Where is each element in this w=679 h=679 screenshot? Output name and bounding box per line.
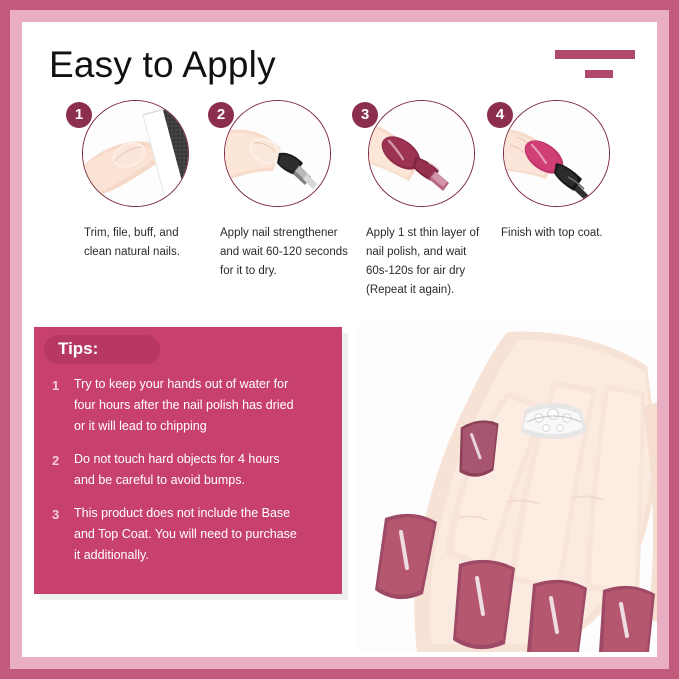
- step-4-photo-circle: [503, 100, 610, 207]
- step-4-caption: Finish with top coat.: [501, 224, 651, 243]
- tip-number: 2: [52, 449, 74, 471]
- step-item-2: 2 Apply nail strengthener and wait 60-12…: [208, 100, 358, 281]
- tips-heading: Tips:: [44, 335, 160, 364]
- content-canvas: Easy to Apply: [22, 22, 657, 657]
- step-3-number-badge: 3: [352, 102, 378, 128]
- step-item-4: 4 Finish with top coat.: [487, 100, 637, 243]
- nail-file-on-finger-icon: [83, 101, 188, 206]
- tip-item: 3 This product does not include the Base…: [34, 503, 342, 566]
- tips-panel: Tips: 1 Try to keep your hands out of wa…: [34, 327, 342, 594]
- step-2-photo-circle: [224, 100, 331, 207]
- step-3-caption: Apply 1 st thin layer of nail polish, an…: [366, 224, 506, 300]
- nail-polish-application-icon: [369, 101, 474, 206]
- decorative-bars: [555, 50, 635, 78]
- tip-item: 1 Try to keep your hands out of water fo…: [34, 374, 342, 437]
- tip-item: 2 Do not touch hard objects for 4 hours …: [34, 449, 342, 491]
- decor-bar-long-icon: [555, 50, 635, 59]
- step-1-photo-circle: [82, 100, 189, 207]
- product-infographic-poster: Easy to Apply: [0, 0, 679, 679]
- tips-list: 1 Try to keep your hands out of water fo…: [34, 374, 342, 578]
- step-2-caption: Apply nail strengthener and wait 60-120 …: [220, 224, 365, 281]
- manicured-hand-with-ring-icon: [357, 322, 657, 652]
- tip-number: 1: [52, 374, 74, 396]
- decor-bar-short-icon: [585, 70, 613, 78]
- step-4-number-badge: 4: [487, 102, 513, 128]
- step-item-1: 1 Trim, file, buff, and clean natural na…: [66, 100, 216, 262]
- tip-number: 3: [52, 503, 74, 525]
- nail-strengthener-brush-icon: [225, 101, 330, 206]
- steps-row: 1 Trim, file, buff, and clean natural na…: [22, 100, 657, 330]
- page-title: Easy to Apply: [49, 44, 276, 86]
- step-1-number-badge: 1: [66, 102, 92, 128]
- tip-text: Do not touch hard objects for 4 hours an…: [74, 449, 326, 491]
- tip-text: Try to keep your hands out of water for …: [74, 374, 326, 437]
- top-coat-application-icon: [504, 101, 609, 206]
- inner-pink-border: Easy to Apply: [10, 10, 669, 669]
- manicured-hand-photo: [357, 322, 657, 652]
- step-2-number-badge: 2: [208, 102, 234, 128]
- tip-text: This product does not include the Base a…: [74, 503, 326, 566]
- step-1-caption: Trim, file, buff, and clean natural nail…: [84, 224, 224, 262]
- step-item-3: 3 Apply 1 st thin layer of nail polish, …: [352, 100, 502, 300]
- step-3-photo-circle: [368, 100, 475, 207]
